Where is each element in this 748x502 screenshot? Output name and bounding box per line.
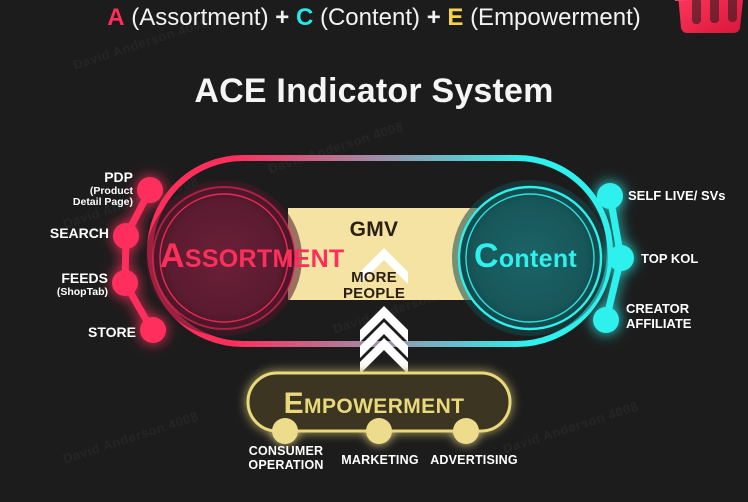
marketing-title: MARKETING bbox=[341, 453, 419, 467]
channel-label-creator-affiliate: CREATOR AFFILIATE bbox=[626, 302, 691, 331]
right-dot-creator-affiliate bbox=[593, 307, 619, 333]
creator-title: CREATOR bbox=[626, 301, 689, 316]
gmv-label: GMV bbox=[0, 218, 748, 242]
pdp-sub-2: Detail Page) bbox=[73, 197, 133, 209]
channel-label-top-kol: TOP KOL bbox=[641, 252, 698, 267]
people-text: PEOPLE bbox=[343, 285, 405, 302]
empowerment-rest: MPOWERMENT bbox=[304, 395, 464, 418]
content-rest: ontent bbox=[499, 245, 577, 273]
bottom-dot-advertising bbox=[453, 418, 479, 444]
ace-system-diagram bbox=[0, 0, 748, 502]
empowerment-initial: E bbox=[284, 387, 304, 420]
channel-label-consumer-operation: CONSUMER OPERATION bbox=[236, 444, 336, 472]
affiliate-title: AFFILIATE bbox=[626, 317, 691, 332]
channel-label-self-live: SELF LIVE/ SVs bbox=[628, 189, 726, 204]
more-people-label: MORE PEOPLE bbox=[0, 270, 748, 302]
pdp-title: PDP bbox=[104, 169, 133, 185]
search-title: SEARCH bbox=[50, 225, 109, 241]
operation-title: OPERATION bbox=[248, 458, 323, 472]
channel-label-marketing: MARKETING bbox=[332, 453, 428, 467]
advertising-title: ADVERTISING bbox=[430, 453, 518, 467]
channel-label-feeds: FEEDS (ShopTab) bbox=[57, 271, 108, 298]
diagram-canvas: David Anderson 4008 David Anderson 4008 … bbox=[0, 0, 748, 502]
bottom-dot-marketing bbox=[366, 418, 392, 444]
feeds-title: FEEDS bbox=[61, 270, 108, 286]
right-dot-top-kol bbox=[608, 245, 634, 271]
left-dot-store bbox=[140, 317, 166, 343]
more-text: MORE bbox=[351, 269, 397, 286]
chevron-stack-up bbox=[360, 306, 408, 374]
feeds-sub: (ShopTab) bbox=[57, 287, 108, 299]
channel-label-store: STORE bbox=[88, 325, 136, 341]
empowerment-label: EMPOWERMENT bbox=[0, 387, 748, 421]
channel-label-pdp: PDP (Product Detail Page) bbox=[73, 170, 133, 209]
assortment-rest: SSORTMENT bbox=[185, 245, 345, 273]
left-dot-pdp bbox=[137, 177, 163, 203]
channel-label-search: SEARCH bbox=[50, 226, 109, 242]
store-title: STORE bbox=[88, 324, 136, 340]
consumer-title: CONSUMER bbox=[249, 444, 324, 458]
self-live-title: SELF LIVE/ SVs bbox=[628, 188, 726, 203]
bottom-dot-consumer-operation bbox=[272, 418, 298, 444]
top-kol-title: TOP KOL bbox=[641, 251, 698, 266]
right-dot-self-live bbox=[597, 183, 623, 209]
channel-label-advertising: ADVERTISING bbox=[424, 453, 524, 467]
